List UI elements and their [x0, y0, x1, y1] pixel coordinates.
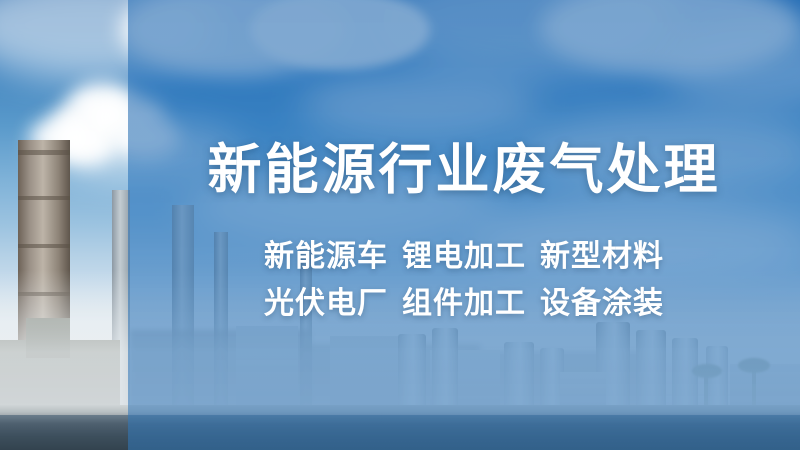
smokestack-band [18, 150, 70, 155]
smokestack-band [18, 244, 70, 248]
banner-image: 新能源行业废气处理 新能源车锂电加工新型材料 光伏电厂组件加工设备涂装 [0, 0, 800, 450]
smokestack-band [18, 196, 70, 200]
subtitle-line-2: 光伏电厂组件加工设备涂装 [264, 281, 664, 328]
subtitle-1-item-2: 锂电加工 [402, 240, 526, 273]
subtitle-1-item-3: 新型材料 [540, 240, 664, 273]
subtitle-2-item-2: 组件加工 [402, 287, 526, 320]
subtitle-1-item-1: 新能源车 [264, 240, 388, 273]
page-title: 新能源行业废气处理 [208, 141, 721, 200]
banner-text-block: 新能源行业废气处理 新能源车锂电加工新型材料 光伏电厂组件加工设备涂装 [128, 0, 800, 450]
subtitle-2-item-3: 设备涂装 [540, 287, 664, 320]
subtitle-2-item-1: 光伏电厂 [264, 287, 388, 320]
subtitle-line-1: 新能源车锂电加工新型材料 [264, 234, 664, 281]
